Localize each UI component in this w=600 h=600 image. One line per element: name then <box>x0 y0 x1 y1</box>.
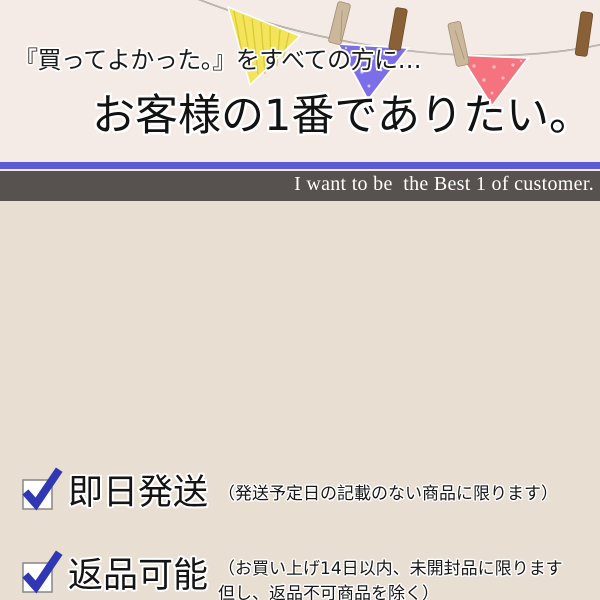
promotional-banner-image: 『買ってよかった。』をすべての方に… お客様の1番でありたい。 I want t… <box>0 0 600 600</box>
checkbox-checked-icon <box>22 561 56 595</box>
list-item-note: （お買い上げ14日以内、未開封品に限ります 但し、返品不可商品を除く） <box>218 557 563 600</box>
banner-headline: お客様の1番でありたい。 <box>92 95 592 138</box>
list-item: 返品可能 （お買い上げ14日以内、未開封品に限ります 但し、返品不可商品を除く） <box>22 556 563 600</box>
list-item: 即日発送 （発送予定日の記載のない商品に限ります） <box>22 473 558 513</box>
list-item-note: （発送予定日の記載のない商品に限ります） <box>218 482 558 507</box>
banner-tagline: 『買ってよかった。』をすべての方に… <box>14 40 421 75</box>
header-banner: 『買ってよかった。』をすべての方に… お客様の1番でありたい。 <box>0 0 600 162</box>
benefits-checklist: 即日発送 （発送予定日の記載のない商品に限ります） 返品可能 （お買い上げ14日… <box>0 201 600 600</box>
list-item-label: 即日発送 <box>68 473 208 513</box>
clothespin-icon-1 <box>328 1 351 45</box>
clothespin-icon-4 <box>575 11 593 56</box>
blue-divider-rule <box>0 162 600 169</box>
list-item-label: 返品可能 <box>68 556 208 596</box>
checkbox-checked-icon <box>22 478 56 512</box>
slogan-text: I want to be the Best 1 of customer. <box>294 173 594 196</box>
clothespin-icon-3 <box>448 21 470 67</box>
